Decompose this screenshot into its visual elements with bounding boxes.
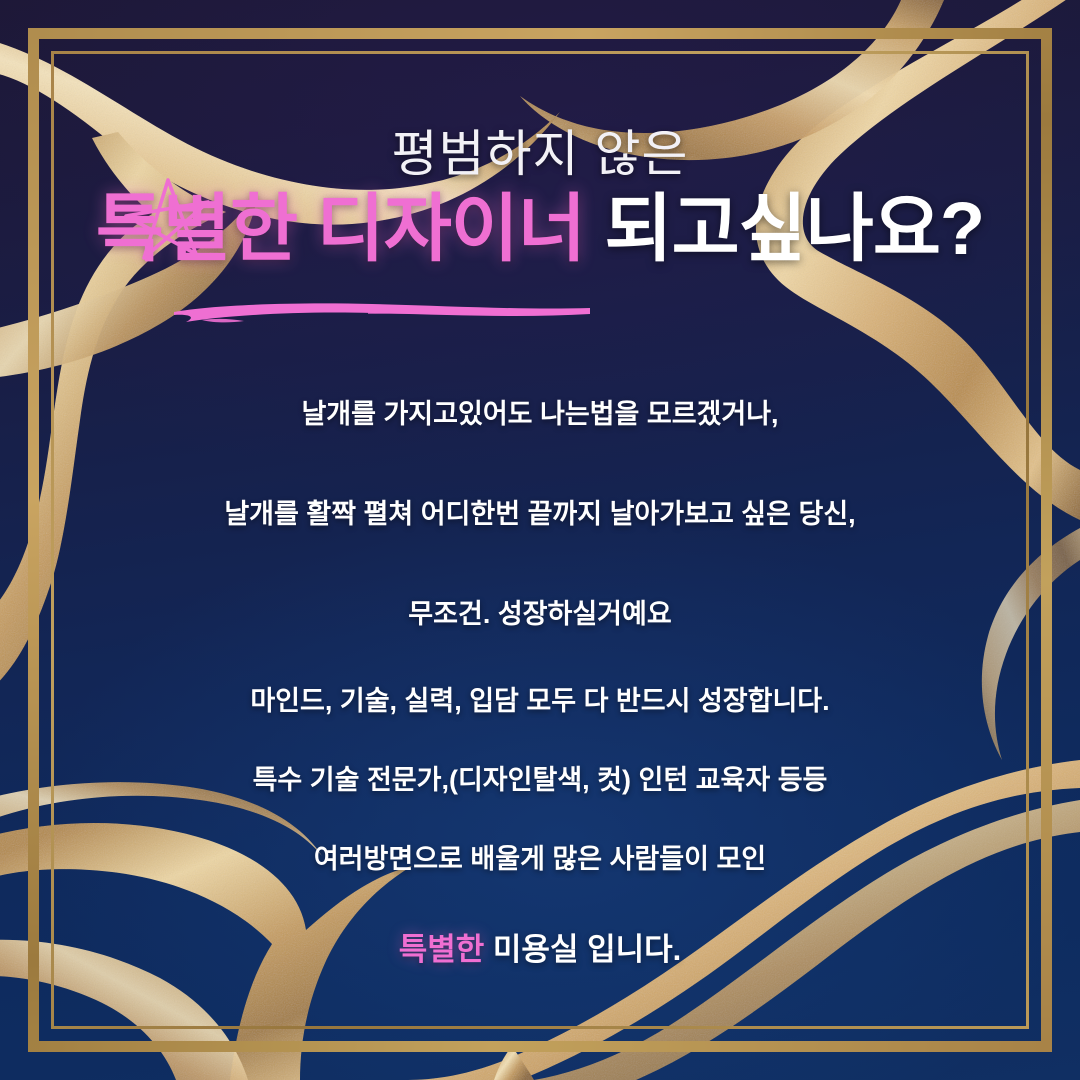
body-line-5: 특수 기술 전문가,(디자인탈색, 컷) 인턴 교육자 등등 [0, 758, 1080, 797]
body-line-3: 무조건. 성장하실거예요 [0, 592, 1080, 631]
body-copy-block: 날개를 가지고있어도 나는법을 모르겠거나, 날개를 활짝 펼쳐 어디한번 끝까… [0, 392, 1080, 969]
spacer [0, 718, 1080, 758]
closing-highlight: 특별한 [399, 932, 485, 967]
body-line-4: 마인드, 기술, 실력, 입담 모두 다 반드시 성장합니다. [0, 679, 1080, 718]
body-line-2: 날개를 활짝 펼쳐 어디한번 끝까지 날아가보고 싶은 당신, [0, 492, 1080, 531]
star-icon [116, 172, 220, 276]
spacer [0, 531, 1080, 592]
body-line-1: 날개를 가지고있어도 나는법을 모르겠거나, [0, 392, 1080, 431]
body-line-6: 여러방면으로 배울게 많은 사람들이 모인 [0, 837, 1080, 876]
closing-rest: 미용실 입니다. [493, 932, 681, 967]
spacer [0, 876, 1080, 924]
poster-canvas: 평범하지 않은 특별한 디자이너 되고싶나요? 날개를 가지고있어도 나는법을 … [0, 0, 1080, 1080]
closing-line: 특별한 미용실 입니다. [0, 924, 1080, 969]
spacer [0, 797, 1080, 837]
spacer [0, 631, 1080, 679]
headline-tail-white: 되고싶나요? [605, 187, 985, 270]
spacer [0, 431, 1080, 492]
brush-underline-stroke [172, 296, 592, 336]
